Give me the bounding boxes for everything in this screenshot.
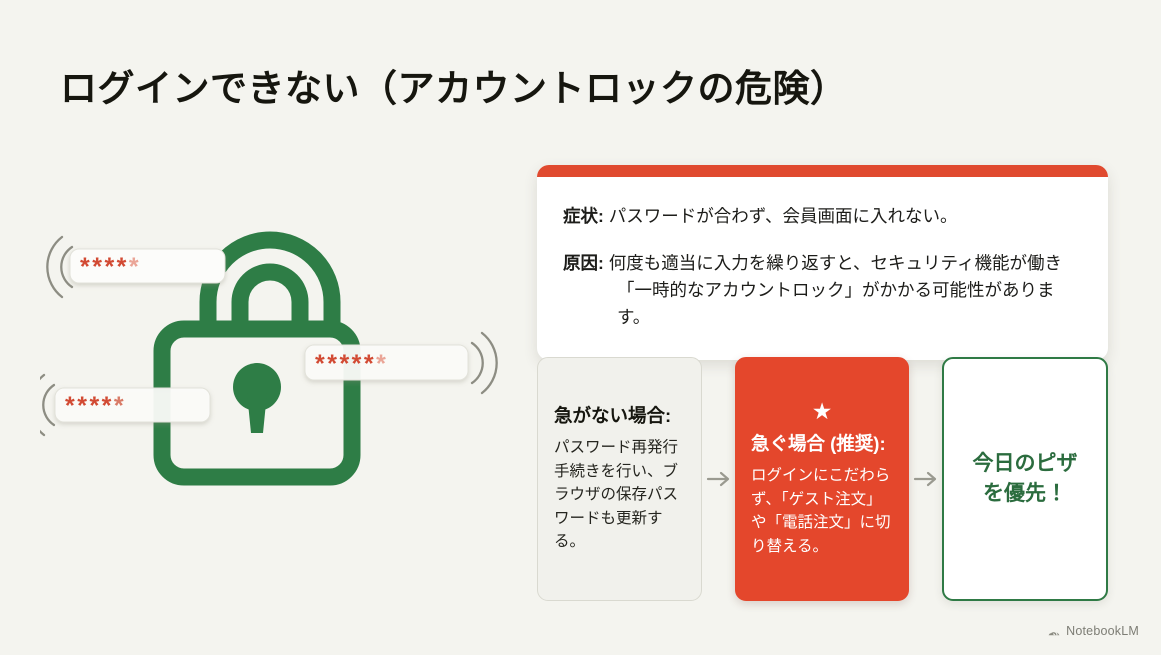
page-title: ログインできない（アカウントロックの危険） [60,58,848,112]
password-mask-bottom-left: ***** [65,392,126,420]
star-icon: ★ [751,400,893,423]
flow-card-urgent[interactable]: ★ 急ぐ場合 (推奨): ログインにこだわらず、「ゲスト注文」や「電話注文」に切… [735,357,909,601]
flow-arrow-1 [702,357,735,601]
shake-arc-bottom-left [40,375,54,435]
notebooklm-watermark: NotebookLM [1046,623,1139,638]
flow-card-outcome[interactable]: 今日のピザを優先！ [942,357,1108,601]
action-flow: 急がない場合: パスワード再発行手続きを行い、ブラウザの保存パスワードも更新する… [537,357,1109,601]
symptom-cause-card: 症状: パスワードが合わず、会員画面に入れない。 原因: 何度も適当に入力を繰り… [537,165,1108,360]
card-body: 症状: パスワードが合わず、会員画面に入れない。 原因: 何度も適当に入力を繰り… [537,177,1108,360]
flow-arrow-2 [909,357,942,601]
flow-card-urgent-body: ログインにこだわらず、「ゲスト注文」や「電話注文」に切り替える。 [751,464,893,558]
watermark-label: NotebookLM [1066,624,1139,638]
cause-text: 何度も適当に入力を繰り返すと、セキュリティ機能が働き「一時的なアカウントロック」… [609,253,1062,327]
flow-card-no-rush-body: パスワード再発行手続きを行い、ブラウザの保存パスワードも更新する。 [554,436,685,554]
arrow-right-icon [913,470,939,488]
notebooklm-spiral-icon [1046,623,1061,638]
padlock-illustration: ***** ***** ****** [40,225,510,515]
password-mask-right: ****** [315,350,388,378]
card-accent-bar [537,165,1108,177]
flow-card-no-rush-heading: 急がない場合: [554,404,685,427]
flow-card-urgent-heading: 急ぐ場合 (推奨): [751,432,893,455]
shake-arc-top-left [47,237,72,297]
symptom-text: パスワードが合わず、会員画面に入れない。 [609,206,958,226]
slide-root: ログインできない（アカウントロックの危険） [0,0,1161,655]
password-mask-top-left: ***** [80,253,141,281]
shake-arc-right [472,333,497,393]
padlock-keyhole [233,363,281,433]
arrow-right-icon [706,470,732,488]
cause-label: 原因: [563,253,604,273]
flow-card-no-rush[interactable]: 急がない場合: パスワード再発行手続きを行い、ブラウザの保存パスワードも更新する… [537,357,702,601]
cause-line: 原因: 何度も適当に入力を繰り返すと、セキュリティ機能が働き「一時的なアカウント… [563,250,1082,331]
symptom-line: 症状: パスワードが合わず、会員画面に入れない。 [563,203,1082,230]
flow-card-outcome-text: 今日のピザを優先！ [973,449,1078,510]
symptom-label: 症状: [563,206,604,226]
